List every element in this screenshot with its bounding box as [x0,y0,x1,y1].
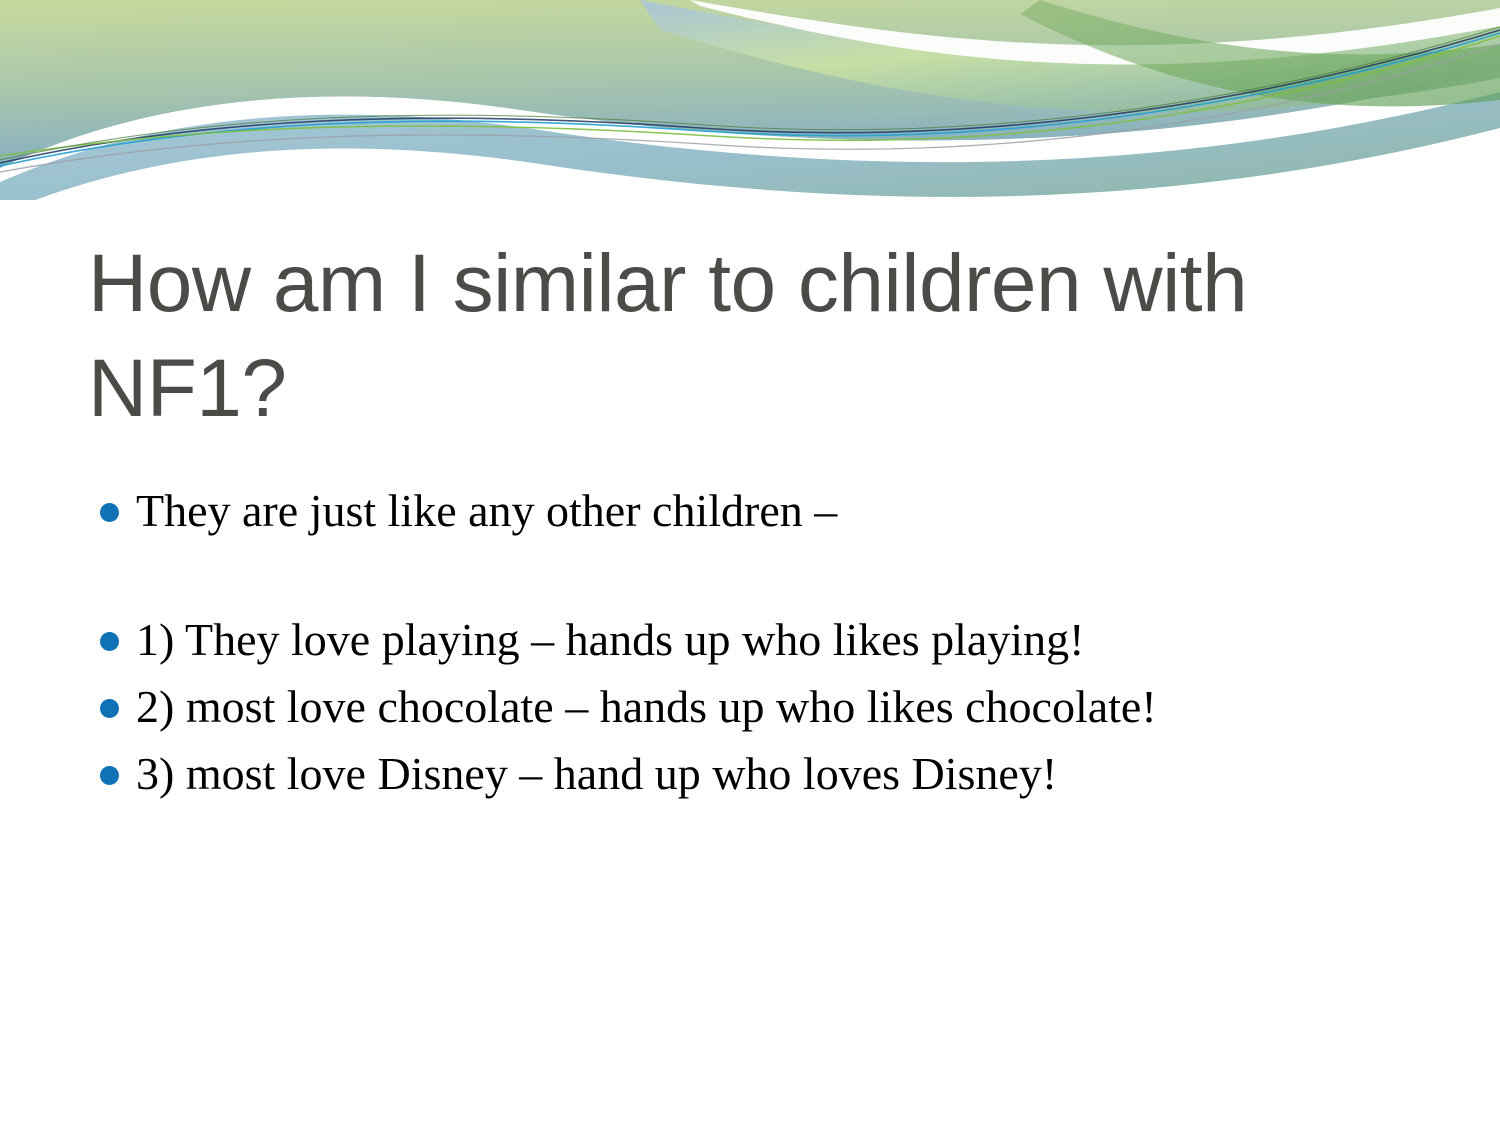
bullet-dot-icon [100,699,119,718]
bullet-dot-icon [100,766,119,785]
bullet-list: They are just like any other children – … [88,482,1448,802]
body-content: They are just like any other children – … [88,482,1448,812]
wave-band-back [0,0,1500,168]
accent-line-gray [0,44,1500,172]
accent-line-navy [0,30,1500,163]
accent-line-green [0,36,1500,156]
list-item: 1) They love playing – hands up who like… [88,611,1448,668]
wave-band-mid [0,92,1500,200]
wave-header-graphic [0,0,1500,200]
list-item: They are just like any other children – [88,482,1448,539]
accent-line-blue [0,33,1500,166]
bullet-text: 2) most love chocolate – hands up who li… [136,678,1448,735]
slide-canvas: How am I similar to children with NF1? T… [0,0,1500,1125]
wave-white-gap-lower [0,70,1500,196]
list-item: 2) most love chocolate – hands up who li… [88,678,1448,735]
wave-white-gap-upper [690,0,1500,64]
bullet-dot-icon [100,503,119,522]
bullet-dot-icon [100,632,119,651]
bullet-text: 3) most love Disney – hand up who loves … [136,745,1448,802]
wave-band-green-upper [640,0,1500,112]
bullet-text: They are just like any other children – [136,482,1448,539]
bullet-text: 1) They love playing – hands up who like… [136,611,1448,668]
list-item: 3) most love Disney – hand up who loves … [88,745,1448,802]
accent-line-olive [0,27,1500,160]
page-title: How am I similar to children with NF1? [88,232,1418,442]
wave-band-green-dark [1020,0,1500,106]
title-block: How am I similar to children with NF1? [88,232,1418,442]
